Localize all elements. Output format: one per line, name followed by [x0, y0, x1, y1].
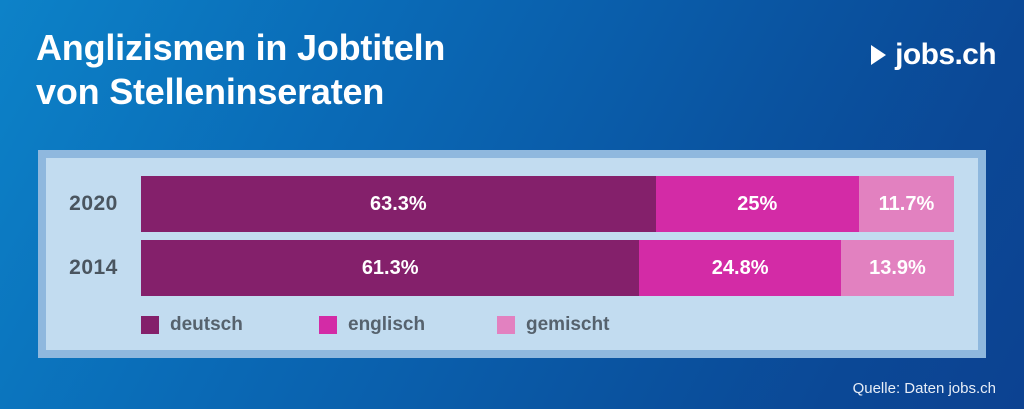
- play-triangle-icon: [871, 45, 886, 65]
- row-year-label: 2014: [46, 256, 141, 280]
- page-title: Anglizismen in Jobtiteln von Stelleninse…: [36, 26, 445, 114]
- legend-item-deutsch[interactable]: deutsch: [141, 314, 319, 336]
- bar-track: 63.3%25%11.7%: [141, 176, 954, 232]
- bar-segment-englisch[interactable]: 25%: [656, 176, 859, 232]
- legend-swatch-icon: [497, 316, 515, 334]
- chart-panel-inner: 202063.3%25%11.7%201461.3%24.8%13.9% deu…: [46, 158, 978, 350]
- chart-row: 201461.3%24.8%13.9%: [46, 240, 978, 296]
- bar-segment-gemischt[interactable]: 13.9%: [841, 240, 954, 296]
- bar-segment-deutsch[interactable]: 63.3%: [141, 176, 656, 232]
- legend-label: gemischt: [526, 314, 609, 336]
- bar-segment-englisch[interactable]: 24.8%: [639, 240, 841, 296]
- bar-segment-deutsch[interactable]: 61.3%: [141, 240, 639, 296]
- chart-legend: deutschenglischgemischt: [141, 314, 675, 336]
- bar-segment-gemischt[interactable]: 11.7%: [859, 176, 954, 232]
- header: Anglizismen in Jobtiteln von Stelleninse…: [0, 0, 1024, 150]
- legend-label: englisch: [348, 314, 425, 336]
- legend-swatch-icon: [319, 316, 337, 334]
- row-year-label: 2020: [46, 192, 141, 216]
- chart-panel: 202063.3%25%11.7%201461.3%24.8%13.9% deu…: [38, 150, 986, 358]
- legend-item-englisch[interactable]: englisch: [319, 314, 497, 336]
- logo-text: jobs.ch: [895, 38, 996, 72]
- jobsch-logo: jobs.ch: [871, 38, 996, 72]
- chart-row: 202063.3%25%11.7%: [46, 176, 978, 232]
- bar-track: 61.3%24.8%13.9%: [141, 240, 954, 296]
- legend-item-gemischt[interactable]: gemischt: [497, 314, 675, 336]
- source-note: Quelle: Daten jobs.ch: [853, 380, 996, 397]
- infographic-root: Anglizismen in Jobtiteln von Stelleninse…: [0, 0, 1024, 409]
- chart-rows: 202063.3%25%11.7%201461.3%24.8%13.9%: [46, 176, 978, 304]
- legend-label: deutsch: [170, 314, 243, 336]
- legend-swatch-icon: [141, 316, 159, 334]
